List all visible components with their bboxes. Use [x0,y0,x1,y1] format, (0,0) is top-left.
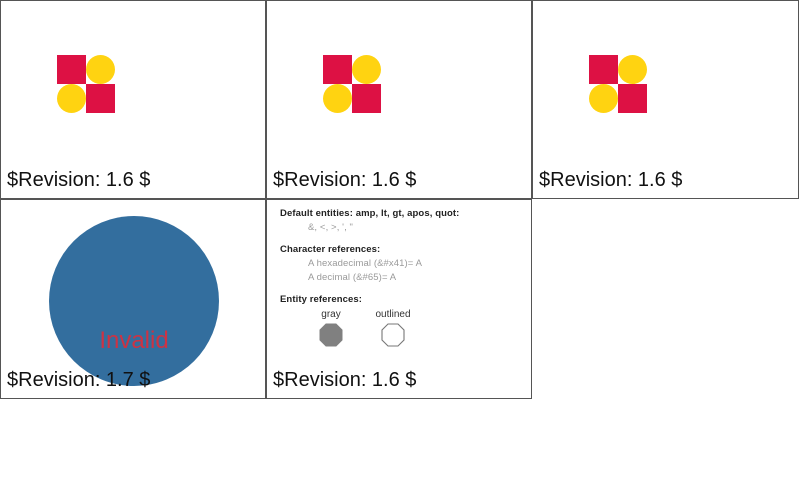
panel-body: Default entities: amp, lt, gt, apos, quo… [267,200,531,398]
character-references-heading: Character references: [280,243,525,256]
red-square-icon [618,84,647,113]
panel-logo-1: $Revision: 1.6 $ [0,0,266,199]
red-square-icon [352,84,381,113]
octagon-outline-icon [381,323,405,347]
four-cell-logo-icon [323,55,381,113]
four-cell-logo-icon [57,55,115,113]
entity-references-row: gray outlined [298,308,525,352]
yellow-circle-icon [618,55,647,84]
red-square-icon [86,84,115,113]
four-cell-logo-icon [589,55,647,113]
red-square-icon [57,55,86,84]
panel-body: $Revision: 1.6 $ [267,1,531,198]
spacer [280,285,525,293]
panel-logo-3: $Revision: 1.6 $ [532,0,799,199]
page-root: $Revision: 1.6 $ $Revision: 1.6 $ $Revis… [0,0,800,480]
revision-label: $Revision: 1.7 $ [7,369,150,391]
revision-label: $Revision: 1.6 $ [273,369,416,391]
panel-body: Invalid $Revision: 1.7 $ [1,200,265,398]
blue-circle-shape: Invalid [49,216,219,386]
red-square-icon [323,55,352,84]
red-square-icon [589,55,618,84]
invalid-label: Invalid [49,328,219,354]
revision-label: $Revision: 1.6 $ [539,169,682,191]
yellow-circle-icon [86,55,115,84]
default-entities-heading: Default entities: amp, lt, gt, apos, quo… [280,207,525,220]
revision-label: $Revision: 1.6 $ [273,169,416,191]
panel-body: $Revision: 1.6 $ [533,1,798,198]
entity-ref-outlined-label: outlined [360,308,426,321]
character-reference-hex: A hexadecimal (&#x41)= A [308,257,525,270]
panel-body: $Revision: 1.6 $ [1,1,265,198]
panel-entities: Default entities: amp, lt, gt, apos, quo… [266,199,532,399]
yellow-circle-icon [589,84,618,113]
entity-ref-outlined: outlined [360,308,426,347]
entity-references-heading: Entity references: [280,293,525,306]
character-reference-dec: A decimal (&#65)= A [308,271,525,284]
yellow-circle-icon [323,84,352,113]
panel-invalid-circle: Invalid $Revision: 1.7 $ [0,199,266,399]
entity-ref-gray: gray [298,308,364,347]
octagon-filled-icon [319,323,343,347]
revision-label: $Revision: 1.6 $ [7,169,150,191]
spacer [280,235,525,243]
default-entities-values: &, <, >, ', " [308,221,525,234]
panel-logo-2: $Revision: 1.6 $ [266,0,532,199]
yellow-circle-icon [57,84,86,113]
entity-ref-gray-label: gray [298,308,364,321]
entities-block: Default entities: amp, lt, gt, apos, quo… [280,207,525,352]
yellow-circle-icon [352,55,381,84]
